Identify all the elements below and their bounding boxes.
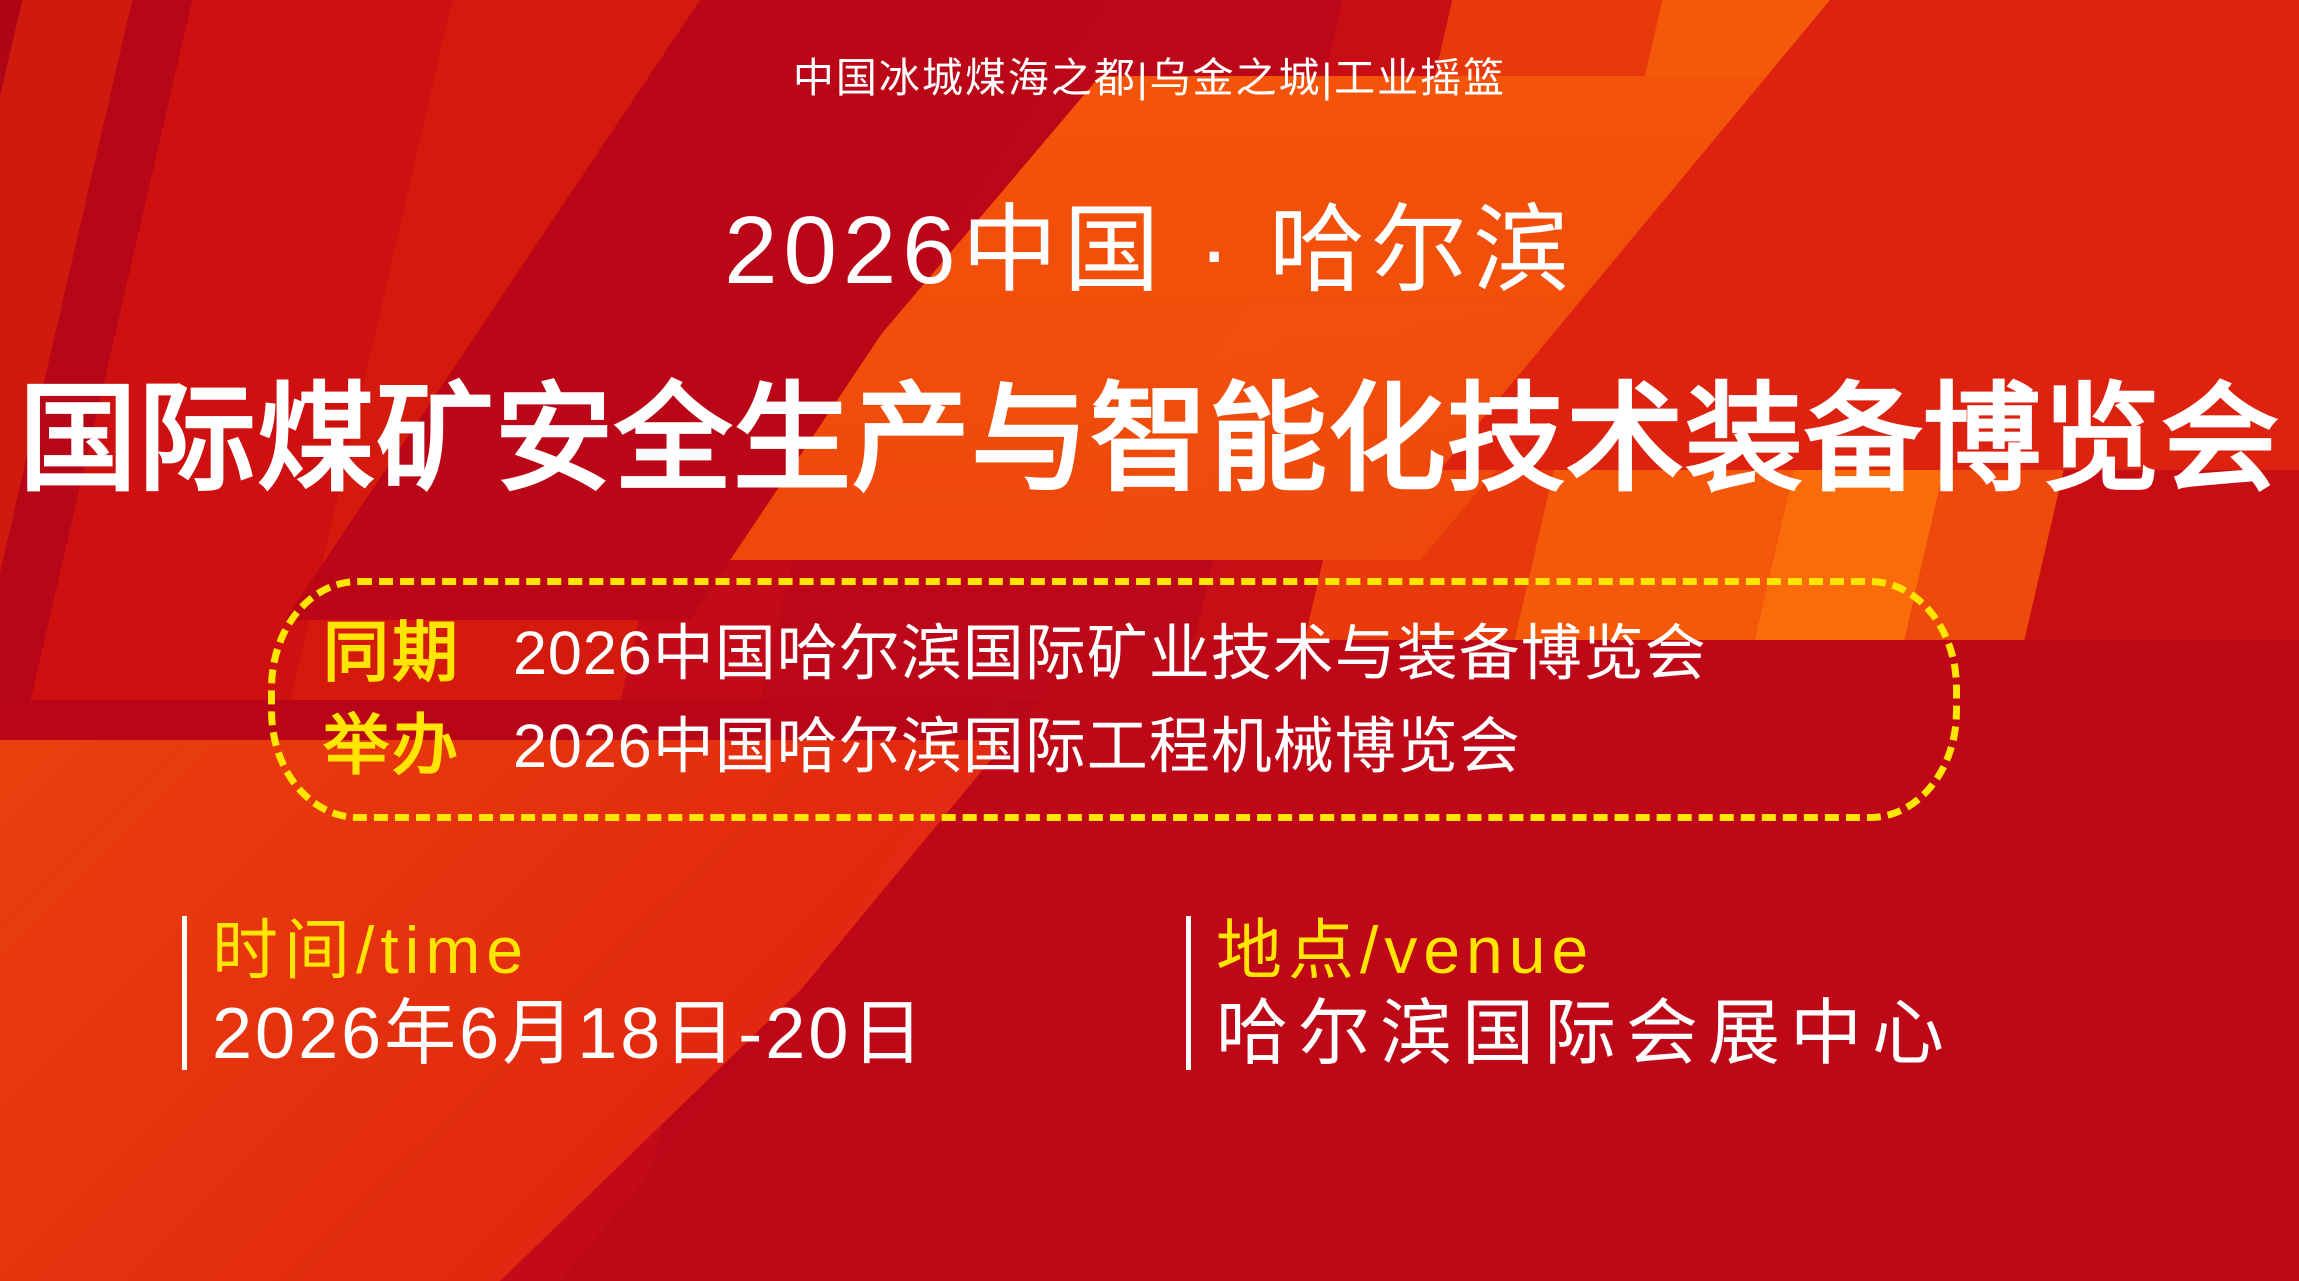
concurrent-tag: 同期 bbox=[323, 599, 513, 695]
concurrent-events-box: 同期 2026中国哈尔滨国际矿业技术与装备博览会 举办 2026中国哈尔滨国际工… bbox=[268, 578, 1960, 821]
venue-value: 哈尔滨国际会展中心 bbox=[1216, 991, 1954, 1079]
time-value: 2026年6月18日-20日 bbox=[212, 991, 926, 1079]
time-label: 时间/time bbox=[212, 910, 926, 991]
concurrent-row: 举办 2026中国哈尔滨国际工程机械博览会 bbox=[275, 692, 1953, 788]
venue-label: 地点/venue bbox=[1216, 910, 1954, 991]
concurrent-row: 同期 2026中国哈尔滨国际矿业技术与装备博览会 bbox=[275, 599, 1953, 695]
concurrent-event-name: 2026中国哈尔滨国际矿业技术与装备博览会 bbox=[513, 603, 1707, 692]
concurrent-event-name: 2026中国哈尔滨国际工程机械博览会 bbox=[513, 696, 1521, 785]
concurrent-tag: 举办 bbox=[323, 692, 513, 788]
event-headline: 国际煤矿安全生产与智能化技术装备博览会 bbox=[0, 343, 2299, 514]
tagline: 中国冰城煤海之都|乌金之城|工业摇篮 bbox=[0, 44, 2299, 104]
time-block: 时间/time 2026年6月18日-20日 bbox=[182, 910, 926, 1078]
venue-block: 地点/venue 哈尔滨国际会展中心 bbox=[1186, 910, 1954, 1078]
event-banner: 中国冰城煤海之都|乌金之城|工业摇篮 2026中国 · 哈尔滨 国际煤矿安全生产… bbox=[0, 0, 2299, 1281]
event-location-title: 2026中国 · 哈尔滨 bbox=[0, 172, 2299, 311]
banner-content: 中国冰城煤海之都|乌金之城|工业摇篮 2026中国 · 哈尔滨 国际煤矿安全生产… bbox=[0, 0, 2299, 1281]
